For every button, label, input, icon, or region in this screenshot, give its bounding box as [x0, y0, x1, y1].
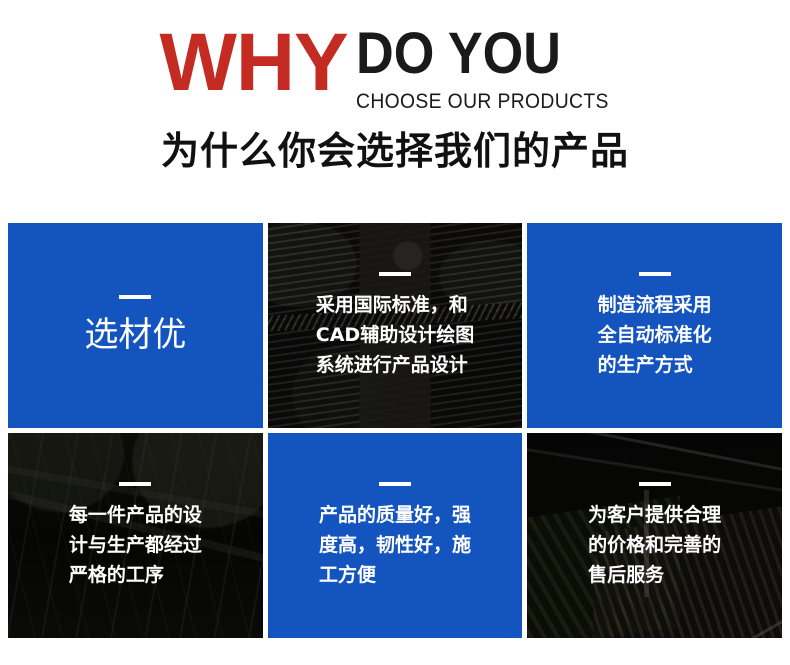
feature-card-3-text: 制造流程采用 全自动标准化 的生产方式: [592, 290, 718, 380]
feature-card-6-inner: 为客户提供合理 的价格和完善的 售后服务: [527, 482, 782, 590]
feature-card-6-text: 为客户提供合理 的价格和完善的 售后服务: [582, 500, 727, 590]
headline-subtitle-en: CHOOSE OUR PRODUCTS: [356, 90, 609, 114]
divider-dash-icon: [379, 482, 411, 486]
headline-do-you-text: DO YOU: [356, 24, 561, 84]
feature-card-1-text: 选材优: [78, 313, 192, 357]
feature-card-2-inner: 采用国际标准，和 CAD辅助设计绘图 系统进行产品设计: [268, 272, 523, 380]
headline-subtitle-cn: 为什么你会选择我们的产品: [0, 128, 790, 174]
banner-header: WHY DO YOU CHOOSE OUR PRODUCTS 为什么你会选择我们…: [0, 0, 790, 218]
feature-card-1-inner: 选材优: [8, 295, 263, 357]
feature-card-4-text: 每一件产品的设 计与生产都经过 严格的工序: [63, 500, 208, 590]
feature-card-5[interactable]: 产品的质量好，强 度高，韧性好，施 工方便: [268, 433, 523, 638]
feature-card-4-inner: 每一件产品的设 计与生产都经过 严格的工序: [8, 482, 263, 590]
feature-card-2-text: 采用国际标准，和 CAD辅助设计绘图 系统进行产品设计: [310, 290, 480, 380]
feature-card-4[interactable]: 每一件产品的设 计与生产都经过 严格的工序: [8, 433, 263, 638]
divider-dash-icon: [119, 295, 151, 299]
promo-banner-page: WHY DO YOU CHOOSE OUR PRODUCTS 为什么你会选择我们…: [0, 0, 790, 665]
feature-card-5-inner: 产品的质量好，强 度高，韧性好，施 工方便: [268, 482, 523, 590]
divider-dash-icon: [119, 482, 151, 486]
feature-card-3[interactable]: 制造流程采用 全自动标准化 的生产方式: [527, 223, 782, 428]
headline-right-group: DO YOU CHOOSE OUR PRODUCTS: [356, 24, 631, 114]
feature-card-5-text: 产品的质量好，强 度高，韧性好，施 工方便: [313, 500, 477, 590]
headline-row: WHY DO YOU CHOOSE OUR PRODUCTS: [0, 20, 790, 112]
headline-why-text: WHY: [159, 20, 347, 106]
feature-card-6[interactable]: 为客户提供合理 的价格和完善的 售后服务: [527, 433, 782, 638]
feature-card-1[interactable]: 选材优: [8, 223, 263, 428]
feature-card-2[interactable]: 采用国际标准，和 CAD辅助设计绘图 系统进行产品设计: [268, 223, 523, 428]
divider-dash-icon: [639, 482, 671, 486]
feature-card-3-inner: 制造流程采用 全自动标准化 的生产方式: [527, 272, 782, 380]
divider-dash-icon: [379, 272, 411, 276]
feature-grid: 选材优 采用国际标准，和 CAD辅助设计绘图 系统进行产品设计 制造流程采用 全…: [8, 223, 782, 638]
divider-dash-icon: [639, 272, 671, 276]
